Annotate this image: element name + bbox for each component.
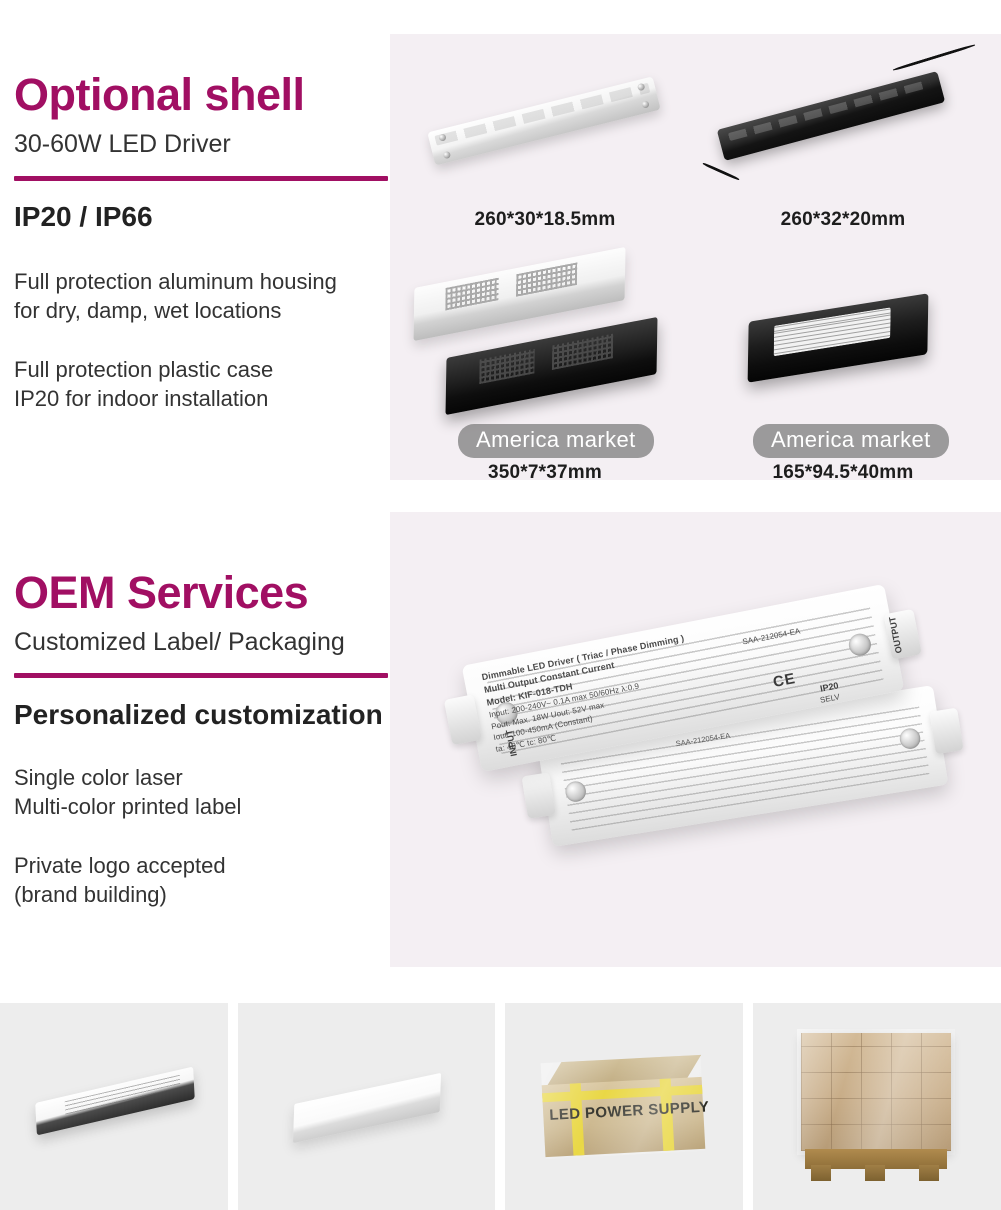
section-title: Optional shell [14,72,386,117]
market-badge: America market [458,424,654,458]
product-cell-vented-aluminum-pair: America market 350*7*37mm [400,246,690,472]
wrapped-pallet-photo [797,1033,955,1183]
product-caption: 260*32*20mm [695,209,991,231]
product-cell-black-ip66-driver: 260*32*20mm [695,42,991,242]
product-cell-black-ul-driver: America market 165*94.5*40mm [695,246,991,472]
oem-services-image-panel: Dimmable LED Driver ( Triac / Phase Dimm… [390,512,1001,967]
product-caption: 165*94.5*40mm [695,462,991,484]
section-paragraph: Full protection aluminum housing for dry… [14,267,386,325]
black-ip66-driver-image [717,100,945,132]
packaging-tile-driver-unit [0,1003,228,1210]
driver-unit-photo [35,1067,195,1136]
section-paragraph: Full protection plastic case IP20 for in… [14,355,386,413]
power-cable [892,43,975,71]
oem-services-text-block: OEM Services Customized Label/ Packaging… [14,570,386,909]
product-label [774,307,891,356]
section-subtitle: Customized Label/ Packaging [14,627,386,657]
product-caption: 260*30*18.5mm [400,209,690,231]
optional-shell-image-panel: 260*30*18.5mm 260*32*20mm [390,34,1001,480]
packaging-tile-pallet [753,1003,1001,1210]
product-detail-page: Optional shell 30-60W LED Driver IP20 / … [0,0,1001,1210]
accent-divider [14,176,388,181]
vented-white-housing-image [412,268,627,320]
optional-shell-text-block: Optional shell 30-60W LED Driver IP20 / … [14,72,386,413]
section-title: OEM Services [14,570,386,615]
product-cell-slim-white-driver: 260*30*18.5mm [400,42,690,242]
section-subtitle: 30-60W LED Driver [14,129,386,159]
vented-black-housing-image [444,338,659,394]
section-heading: IP20 / IP66 [14,202,386,233]
slim-white-driver-image [428,104,660,138]
packaging-tile-export-carton: LED POWER SUPPLY [505,1003,743,1210]
accent-divider [14,673,388,678]
white-gift-box-photo [293,1073,441,1143]
market-badge: America market [753,424,949,458]
black-ul-driver-image [747,308,929,368]
section-paragraph: Private logo accepted (brand building) [14,851,386,909]
section-paragraph: Single color laser Multi-color printed l… [14,763,386,821]
power-cable [702,162,740,181]
export-carton-photo: LED POWER SUPPLY [541,1055,706,1159]
packaging-tile-white-box [238,1003,495,1210]
product-caption: 350*7*37mm [400,462,690,484]
section-heading: Personalized customization [14,700,386,731]
